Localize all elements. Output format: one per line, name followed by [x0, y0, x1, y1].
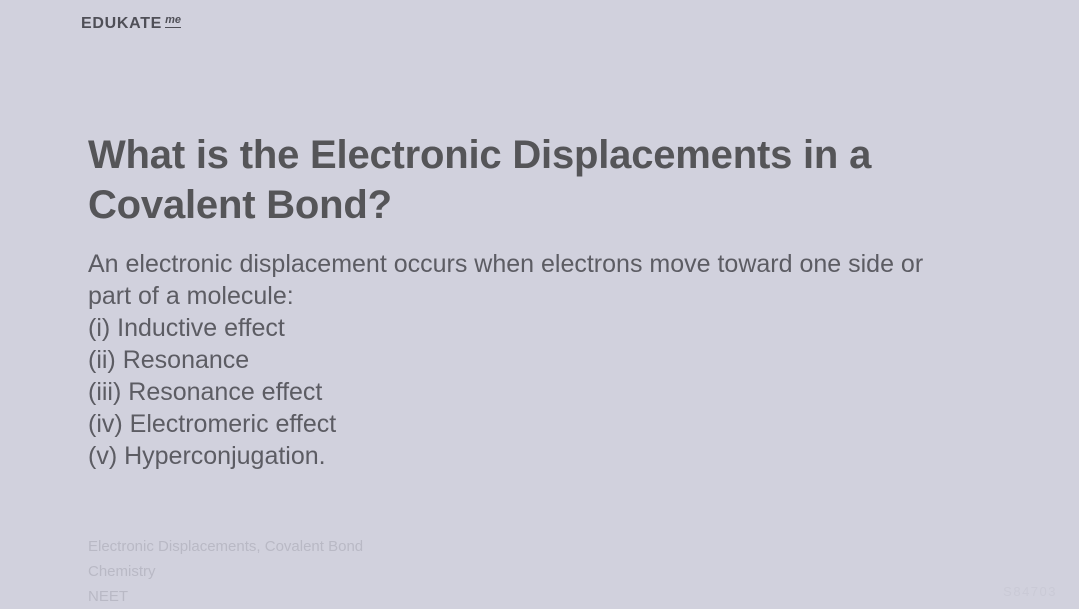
footer-tags: Electronic Displacements, Covalent Bond [88, 534, 363, 559]
logo-brand-text: EDUKATE [81, 16, 162, 32]
slide-footer: Electronic Displacements, Covalent Bond … [88, 534, 363, 609]
logo-suffix-text: me [165, 15, 181, 28]
footer-exam: NEET [88, 584, 363, 609]
effects-list: (i) Inductive effect (ii) Resonance (iii… [88, 312, 968, 472]
edukate-logo: EDUKATE me [81, 16, 181, 32]
list-item: (i) Inductive effect [88, 312, 968, 344]
slide-body: An electronic displacement occurs when e… [88, 248, 968, 472]
list-item: (iii) Resonance effect [88, 376, 968, 408]
watermark-id: S84703 [1003, 584, 1057, 599]
list-item: (ii) Resonance [88, 344, 968, 376]
slide-canvas: EDUKATE me What is the Electronic Displa… [0, 0, 1079, 607]
slide-title: What is the Electronic Displacements in … [88, 130, 978, 230]
list-item: (iv) Electromeric effect [88, 408, 968, 440]
footer-subject: Chemistry [88, 559, 363, 584]
list-item: (v) Hyperconjugation. [88, 440, 968, 472]
body-paragraph: An electronic displacement occurs when e… [88, 248, 968, 312]
